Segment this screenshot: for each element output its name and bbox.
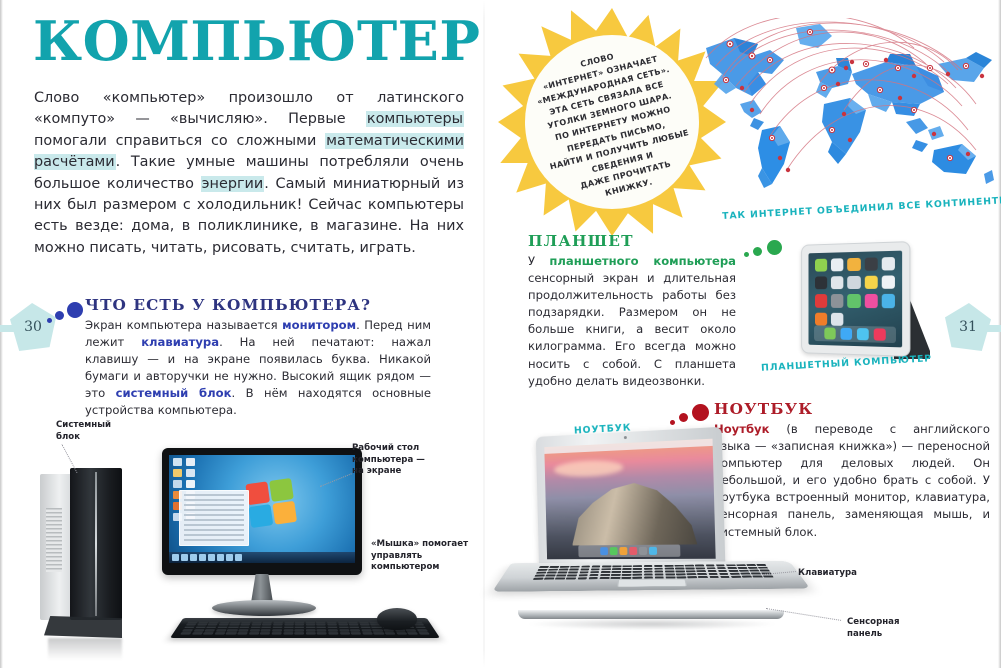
handwritten-caption-map: так интернет объединил все континенты bbox=[722, 195, 1001, 222]
tablet-app-icon bbox=[815, 259, 827, 272]
tablet-app-icon-empty bbox=[864, 313, 877, 327]
laptop-screen bbox=[544, 439, 715, 560]
tablet-app-icon bbox=[848, 258, 861, 271]
desktop-icon bbox=[186, 469, 195, 477]
laptop-illustration: MacBook Air bbox=[500, 432, 800, 637]
taskbar-icon bbox=[190, 554, 197, 561]
wallpaper-cloud bbox=[554, 459, 623, 478]
system-unit-tower bbox=[40, 468, 124, 623]
tower-side-panel bbox=[40, 474, 72, 620]
bullet-dots-red bbox=[670, 404, 714, 426]
dock-icon-mail bbox=[840, 328, 852, 340]
section-heading-tablet: ПЛАНШЕТ bbox=[528, 232, 736, 250]
tablet-body bbox=[801, 241, 910, 357]
tower-seam bbox=[95, 472, 97, 616]
callout-desktop-screen: Рабочий стол компьютера — на экране bbox=[352, 443, 425, 478]
dock-icon-notes bbox=[619, 547, 627, 555]
taskbar-icon bbox=[181, 554, 188, 561]
highlight-computers: компью­теры bbox=[366, 111, 464, 127]
tablet-dock bbox=[814, 325, 896, 343]
tower-stand bbox=[44, 616, 122, 638]
taskbar-icon bbox=[199, 554, 206, 561]
tablet-app-icon bbox=[864, 276, 877, 289]
tower-front-panel bbox=[70, 468, 122, 620]
monitor bbox=[162, 448, 362, 618]
tablet-app-icon bbox=[815, 312, 827, 325]
tablet-illustration bbox=[790, 243, 940, 361]
tablet-app-icon bbox=[831, 258, 844, 271]
desktop-icon bbox=[186, 480, 195, 488]
callout-system-unit: Системный блок bbox=[56, 420, 111, 443]
section-heading-laptop: НОУТБУК bbox=[714, 400, 990, 418]
tablet-app-icon bbox=[848, 276, 861, 289]
section-body-computer-parts: Экран компьютера называется монитором. П… bbox=[85, 317, 431, 420]
desktop-icon bbox=[186, 458, 195, 466]
section-computer-parts: ЧТО ЕСТЬ У КОМПЬЮТЕРА? Экран компьютера … bbox=[85, 296, 485, 420]
section-tablet: ПЛАНШЕТ У планшетного компьютера сенсорн… bbox=[528, 232, 736, 390]
tablet-app-icon bbox=[848, 294, 861, 307]
dock-icon-music bbox=[629, 547, 637, 555]
taskbar-icon bbox=[208, 554, 215, 561]
section-heading-computer-parts: ЧТО ЕСТЬ У КОМПЬЮТЕРА? bbox=[85, 296, 485, 314]
laptop-keyboard bbox=[533, 564, 774, 580]
taskbar-icon bbox=[235, 554, 242, 561]
intro-paragraph: Слово «компьютер» произошло от латинског… bbox=[34, 88, 464, 259]
page-edge-shadow-left bbox=[0, 0, 3, 668]
tablet-app-icon bbox=[864, 257, 877, 271]
start-menu-panel bbox=[179, 490, 249, 546]
taskbar bbox=[169, 552, 355, 563]
tablet-app-icon bbox=[882, 276, 895, 290]
world-map-svg bbox=[700, 18, 1001, 193]
monitor-bezel bbox=[162, 448, 362, 575]
sunburst-text: слово «интернет» означает «международная… bbox=[502, 18, 724, 230]
wallpaper-mountain bbox=[571, 475, 698, 545]
book-spread: КОМПЬЮТЕР Слово «компьютер» произошло от… bbox=[0, 0, 1001, 668]
laptop-trackpad bbox=[617, 579, 687, 587]
windows-logo-icon bbox=[245, 478, 297, 528]
section-body-tablet: У планшетного компьютера сенсорный экран… bbox=[528, 253, 736, 390]
callout-touchpad: Сенсорная панель bbox=[847, 617, 899, 640]
tablet-app-icon bbox=[831, 312, 844, 325]
tablet-app-icon bbox=[864, 294, 877, 307]
tablet-app-icon bbox=[831, 294, 844, 307]
page-title: КОМПЬЮТЕР bbox=[33, 14, 480, 68]
bullet-dots-blue bbox=[47, 302, 89, 324]
tablet-app-grid bbox=[815, 257, 895, 326]
tower-reflection bbox=[48, 638, 122, 660]
taskbar-icon bbox=[172, 554, 179, 561]
tablet-app-icon bbox=[831, 276, 844, 289]
desktop-icon bbox=[173, 458, 182, 466]
desktop-icon bbox=[173, 480, 182, 488]
computer-mouse bbox=[377, 608, 417, 630]
mac-menu-bar bbox=[544, 439, 712, 454]
tablet-app-icon bbox=[815, 294, 827, 307]
highlight-math: мате­матическими расчётами bbox=[34, 133, 464, 170]
laptop-base bbox=[492, 561, 810, 592]
dock-icon-music bbox=[873, 328, 885, 340]
tablet-screen bbox=[809, 251, 903, 348]
monitor-screen bbox=[169, 455, 355, 563]
laptop-shadow bbox=[526, 618, 778, 630]
dock-icon-settings bbox=[639, 547, 647, 555]
world-map-illustration bbox=[700, 18, 1001, 193]
dock-icon-facetime bbox=[610, 547, 618, 555]
taskbar-icon bbox=[217, 554, 224, 561]
tablet-app-icon-empty bbox=[848, 313, 861, 326]
tablet-app-icon-empty bbox=[882, 313, 895, 327]
dock-icon-safari bbox=[856, 328, 868, 340]
tablet-app-icon bbox=[882, 257, 895, 271]
mac-dock bbox=[579, 545, 680, 558]
dock-icon-safari bbox=[649, 547, 657, 555]
tablet-app-icon bbox=[815, 277, 827, 290]
tablet-app-icon bbox=[882, 294, 895, 308]
callout-mouse: «Мышка» помогает управлять компьютером bbox=[371, 539, 468, 574]
sunburst-internet-fact: слово «интернет» означает «международная… bbox=[498, 8, 726, 236]
dock-icon-phone bbox=[824, 327, 835, 339]
callout-keyboard: Клавиатура bbox=[798, 568, 857, 580]
taskbar-icon bbox=[226, 554, 233, 561]
desktop-icon bbox=[173, 469, 182, 477]
highlight-energy: энер­гии bbox=[201, 176, 265, 192]
laptop-camera bbox=[624, 436, 627, 439]
keyboard-row bbox=[180, 632, 429, 634]
page-number-right: 31 bbox=[945, 303, 991, 351]
dock-icon-finder bbox=[600, 547, 608, 555]
laptop-lid: MacBook Air bbox=[536, 427, 726, 570]
tower-vents bbox=[46, 508, 62, 572]
